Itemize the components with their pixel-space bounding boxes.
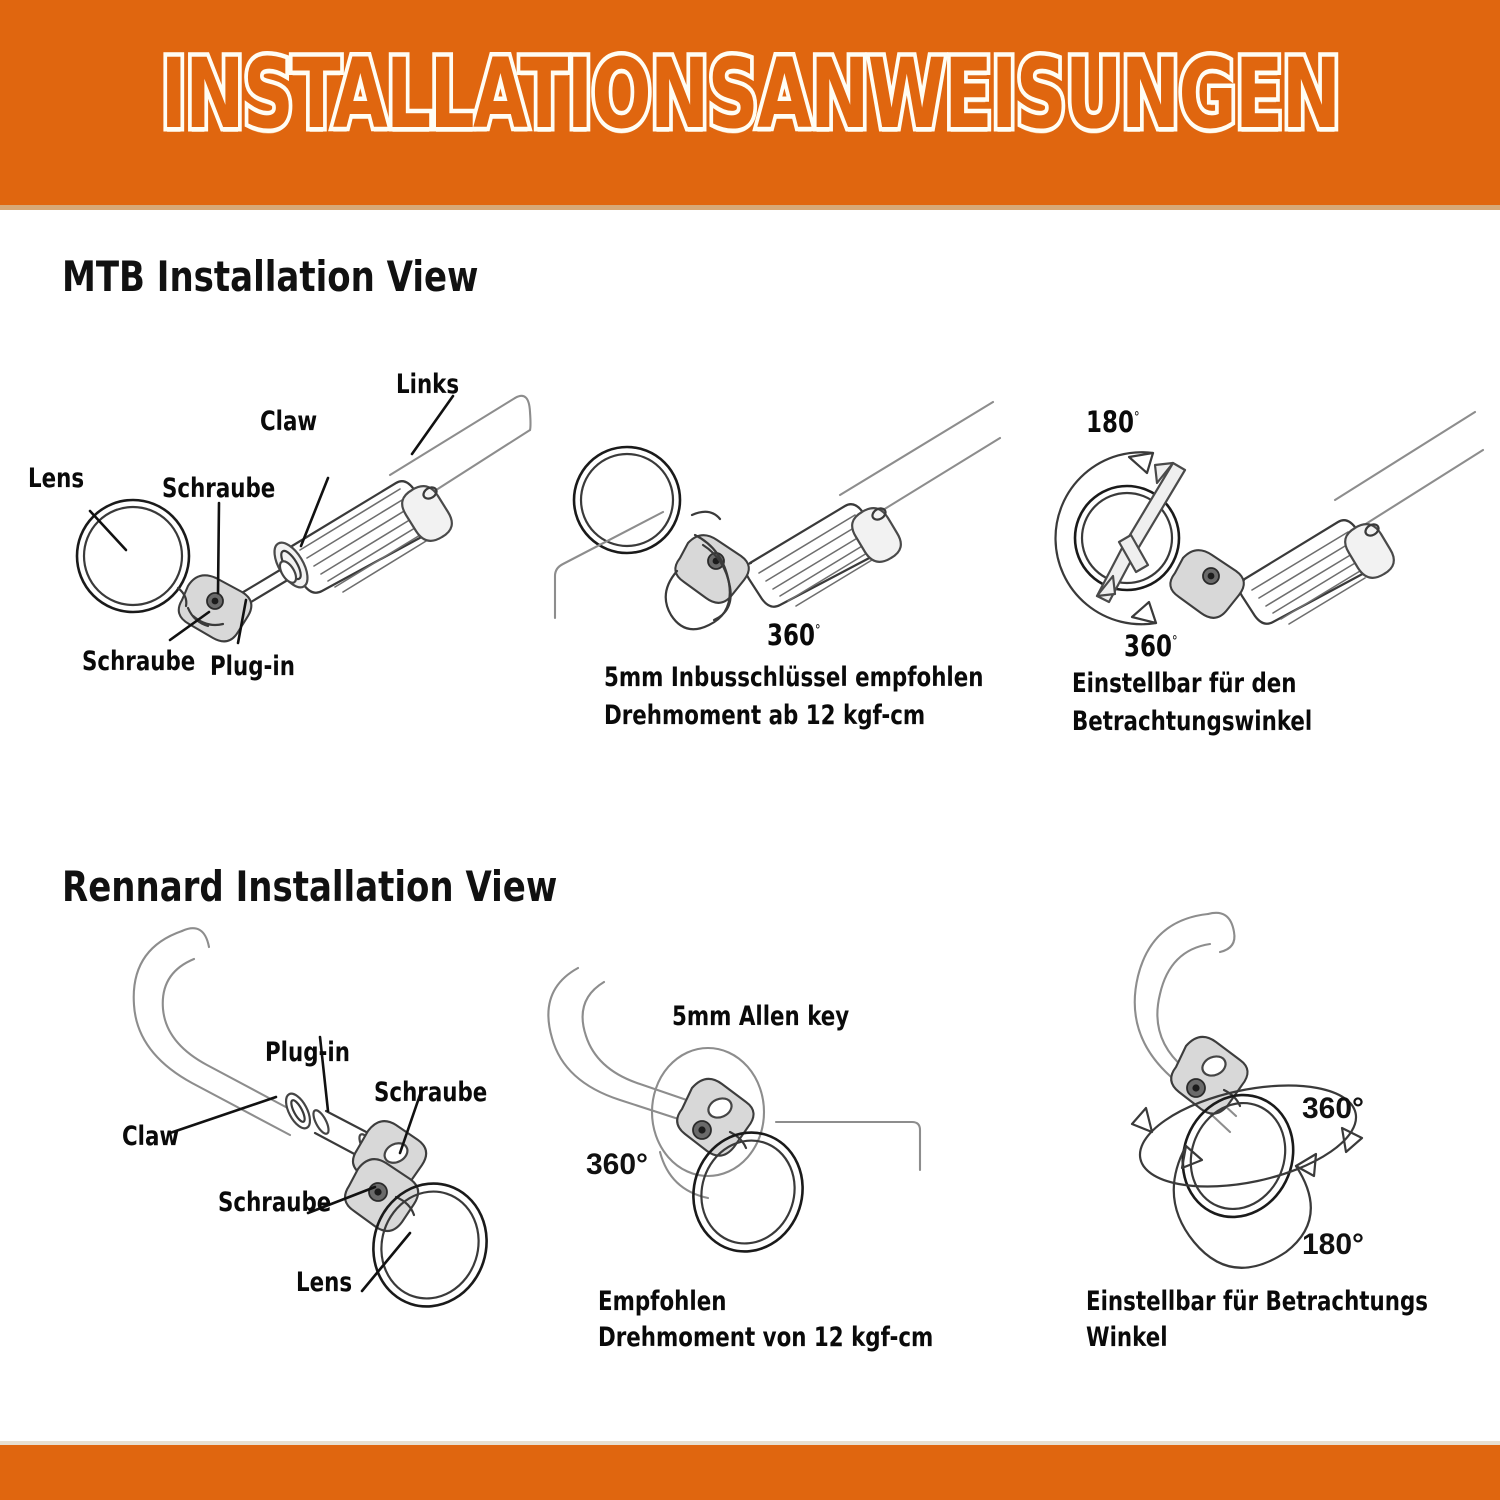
- bottom-bar: [0, 1445, 1500, 1500]
- label-claw-mtb: Claw: [260, 405, 317, 440]
- diagram-mtb-parts: [60, 350, 560, 650]
- rennard-torque-line2: Drehmoment von 12 kgf-cm: [598, 1320, 933, 1356]
- angle-180-rennard-adjust: 180°: [1302, 1228, 1364, 1262]
- angle-value: 360: [1124, 629, 1172, 663]
- rennard-torque-line1: Empfohlen: [598, 1284, 726, 1320]
- angle-360-rennard-adjust: 360°: [1302, 1092, 1364, 1126]
- mtb-torque-line1: 5mm Inbusschlüssel empfohlen: [604, 660, 983, 696]
- banner-bottom-edge: [0, 205, 1500, 210]
- degree-symbol: °: [815, 622, 821, 638]
- degree-symbol: °: [1134, 409, 1140, 425]
- section-heading-rennard: Rennard Installation View: [62, 862, 557, 911]
- label-schraube-lower-mtb: Schraube: [82, 645, 195, 680]
- label-lens-mtb: Lens: [28, 462, 84, 497]
- mtb-adjust-line2: Betrachtungswinkel: [1072, 704, 1312, 740]
- label-plug-in-rennard: Plug-in: [265, 1036, 350, 1071]
- angle-180-mtb-adjust: 180°: [1086, 404, 1140, 441]
- page-title: INSTALLATIONSANWEISUNGEN: [135, 46, 1365, 142]
- section-heading-mtb: MTB Installation View: [62, 252, 478, 301]
- rennard-tool-label: 5mm Allen key: [672, 1000, 849, 1035]
- label-links-mtb: Links: [396, 368, 459, 403]
- label-claw-rennard: Claw: [122, 1120, 179, 1155]
- angle-value: 360: [767, 618, 815, 652]
- label-lens-rennard: Lens: [296, 1266, 352, 1301]
- mtb-adjust-line1: Einstellbar für den: [1072, 666, 1296, 702]
- angle-value: 180: [1086, 405, 1134, 439]
- rennard-adjust-line2: Winkel: [1086, 1320, 1168, 1356]
- mtb-torque-line2: Drehmoment ab 12 kgf-cm: [604, 698, 925, 734]
- angle-360-mtb-torque: 360°: [767, 617, 821, 654]
- degree-symbol: °: [1172, 633, 1178, 649]
- angle-360-rennard-torque: 360°: [586, 1148, 648, 1182]
- label-schraube-lower-rennard: Schraube: [218, 1186, 331, 1221]
- diagram-mtb-torque: [545, 400, 1005, 650]
- angle-360-mtb-adjust: 360°: [1124, 628, 1178, 665]
- diagram-rennard-adjust: [1060, 900, 1480, 1320]
- rennard-adjust-line1: Einstellbar für Betrachtungs: [1086, 1284, 1428, 1320]
- diagram-mtb-adjust: [1035, 430, 1485, 660]
- label-schraube-upper-rennard: Schraube: [374, 1076, 487, 1111]
- label-schraube-upper-mtb: Schraube: [162, 472, 275, 507]
- label-plug-in-mtb: Plug-in: [210, 650, 295, 685]
